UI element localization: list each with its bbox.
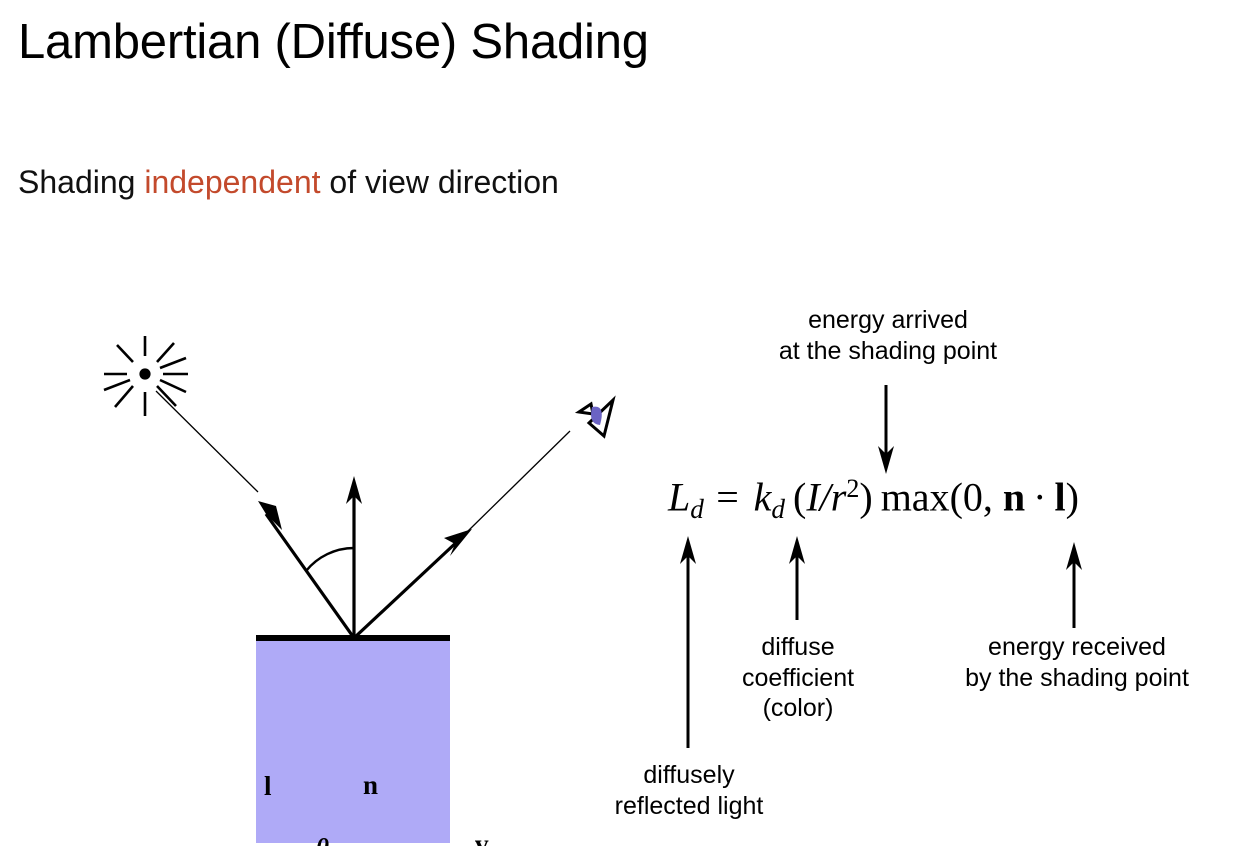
light-source-point (139, 368, 150, 379)
equation-normal-symbol: n (1003, 475, 1025, 520)
equation-divide: / (820, 475, 831, 520)
equation-max-zero: 0 (963, 475, 983, 520)
normal-vector-label: n (363, 772, 378, 799)
equation-distance-symbol: r (831, 475, 847, 520)
subtitle-accent-word: independent (144, 164, 320, 200)
normal-vector-arrow (346, 476, 362, 638)
equation-kd-symbol: k (754, 475, 772, 520)
surface-block (256, 641, 450, 843)
equation-max-paren-close: ) (1066, 475, 1079, 520)
light-vector-label: l (264, 773, 272, 800)
equation-kd-subscript: d (771, 494, 785, 524)
diagram-svg (0, 300, 660, 846)
annotation-energy-received: energy received by the shading point (908, 632, 1246, 693)
equation-max-comma: , (983, 475, 993, 520)
view-ray-line (468, 431, 570, 531)
equation-max-paren-open: ( (950, 475, 963, 520)
subtitle-text-before: Shading (18, 164, 144, 200)
subtitle-text-after: of view direction (321, 164, 559, 200)
arrow-up-diffuse-coefficient (789, 536, 805, 620)
equation-dot-operator: · (1033, 475, 1046, 520)
subtitle: Shading independent of view direction (18, 163, 559, 201)
equation-paren-open: ( (793, 475, 806, 520)
incident-ray-line (156, 391, 258, 492)
equation-paren-close: ) (859, 475, 872, 520)
equation-distance-exponent: 2 (846, 474, 859, 503)
equation-max-function: max (881, 475, 950, 520)
annotation-energy-arrived: energy arrived at the shading point (733, 305, 1043, 366)
equation-equals: = (704, 475, 754, 520)
equation-Ld-subscript: d (690, 494, 704, 524)
arrow-up-diffusely-reflected (680, 536, 696, 748)
annotation-diffuse-coefficient: diffuse coefficient (color) (712, 632, 884, 724)
slide-canvas: Lambertian (Diffuse) Shading Shading ind… (0, 0, 1251, 846)
view-vector-label: v (475, 831, 489, 846)
equation-Ld-symbol: L (668, 475, 690, 520)
theta-angle-arc (306, 548, 354, 571)
view-vector-arrow (354, 529, 472, 638)
shading-equation: Ld = kd (I/r2) max(0, n · l) (668, 476, 1079, 523)
lambertian-reflection-diagram: l n v θ (0, 300, 660, 846)
equation-light-symbol: l (1055, 475, 1066, 520)
arrow-up-energy-received (1066, 542, 1082, 628)
eye-viewer-icon (579, 400, 613, 436)
equation-intensity-symbol: I (806, 475, 819, 520)
page-title: Lambertian (Diffuse) Shading (18, 14, 649, 70)
theta-angle-label: θ (316, 836, 329, 846)
arrow-down-energy-arrived (878, 385, 894, 474)
annotation-diffusely-reflected: diffusely reflected light (563, 760, 815, 821)
